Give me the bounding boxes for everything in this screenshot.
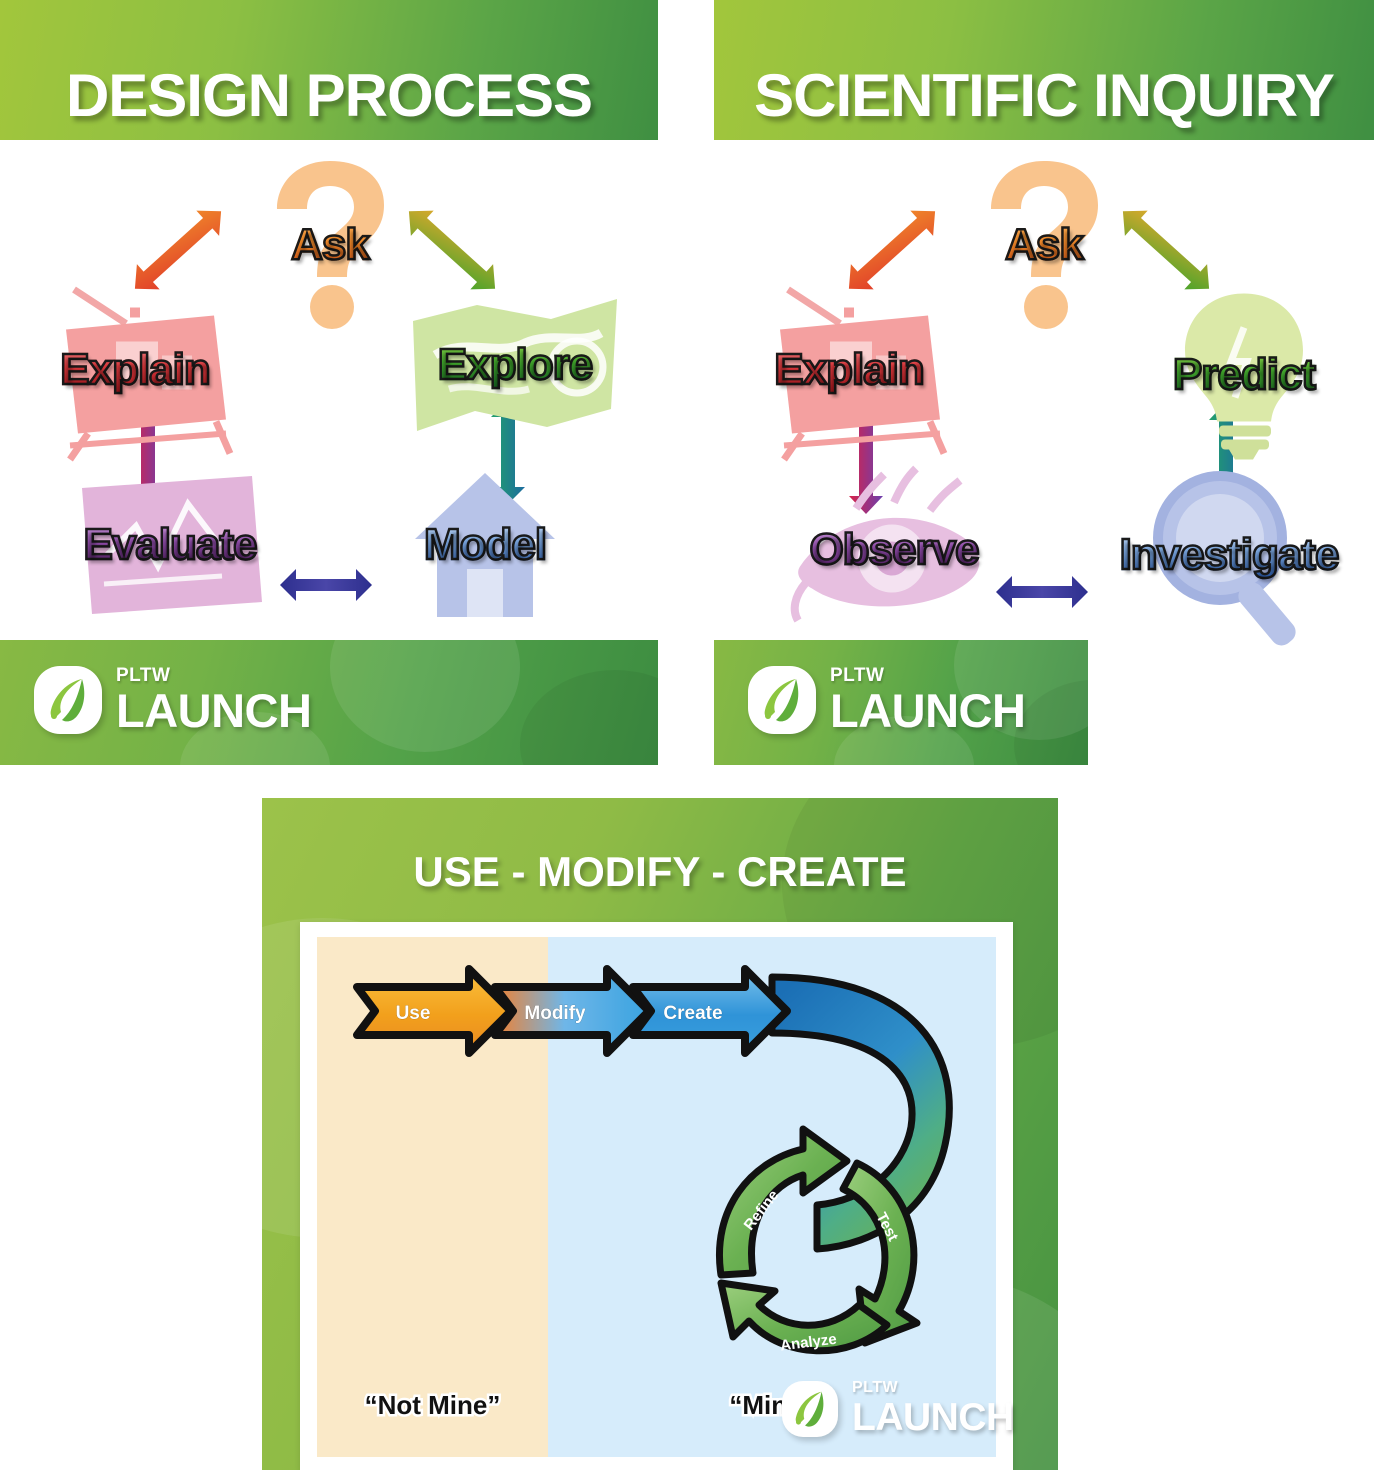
cycle-node-explain[interactable]: Explain	[20, 275, 250, 465]
cycle-node-predict[interactable]: Predict	[1129, 285, 1359, 465]
cycle-node-label-ask: Ask	[1005, 220, 1083, 270]
pltw-brand-sub: PLTW	[830, 666, 1025, 685]
cycle-node-ask[interactable]: Ask	[245, 150, 415, 340]
scientific-inquiry-panel: SCIENTIFIC INQUIRY	[714, 0, 1374, 765]
cycle-node-label-ask: Ask	[291, 220, 369, 270]
decorative-blob	[520, 670, 658, 765]
design-process-header: DESIGN PROCESS	[0, 0, 658, 140]
zone-label-not-mine: “Not Mine”	[317, 1390, 548, 1421]
cycle-node-label-explain: Explain	[774, 345, 924, 395]
pltw-brand-sub: PLTW	[852, 1380, 1014, 1396]
cycle-node-label-evaluate: Evaluate	[84, 520, 257, 570]
design-process-cycle: Ask Explore Model	[0, 140, 658, 640]
cycle-node-explore[interactable]: Explore	[400, 280, 630, 450]
pltw-brand-main: LAUNCH	[830, 687, 1025, 734]
scientific-inquiry-footer-band: PLTW LAUNCH	[714, 640, 1088, 765]
pltw-launch-logo[interactable]: PLTW LAUNCH	[782, 1380, 1014, 1437]
cycle-node-model[interactable]: Model	[385, 460, 585, 630]
cycle-node-label-explain: Explain	[60, 345, 210, 395]
cycle-node-label-observe: Observe	[809, 525, 978, 575]
cycle-node-label-investigate: Investigate	[1120, 530, 1339, 580]
pltw-brand-main: LAUNCH	[852, 1398, 1014, 1437]
pltw-rocket-leaf-icon	[34, 666, 102, 734]
page-title-design-process: DESIGN PROCESS	[66, 66, 592, 126]
cycle-node-observe[interactable]: Observe	[764, 460, 1024, 640]
cycle-node-investigate[interactable]: Investigate	[1084, 470, 1374, 640]
scientific-inquiry-cycle: Ask Predict Investigate	[714, 140, 1374, 640]
pltw-brand-sub: PLTW	[116, 666, 311, 685]
design-process-footer-band: PLTW LAUNCH	[0, 640, 658, 765]
pltw-launch-logo[interactable]: PLTW LAUNCH	[34, 666, 311, 734]
design-process-panel: DESIGN PROCESS	[0, 0, 658, 765]
cycle-node-ask[interactable]: Ask	[959, 150, 1129, 340]
pltw-wordmark: PLTW LAUNCH	[852, 1380, 1014, 1437]
zone-not-mine: “Not Mine”	[317, 937, 548, 1457]
decorative-blob	[330, 640, 520, 752]
pltw-rocket-leaf-icon	[782, 1381, 838, 1437]
cycle-node-label-predict: Predict	[1173, 350, 1315, 400]
page-title-scientific-inquiry: SCIENTIFIC INQUIRY	[754, 66, 1334, 126]
zone-mine: “Mine”	[548, 937, 996, 1457]
pltw-rocket-leaf-icon	[748, 666, 816, 734]
pltw-wordmark: PLTW LAUNCH	[830, 666, 1025, 734]
pltw-brand-main: LAUNCH	[116, 687, 311, 734]
page-title-use-modify-create: USE - MODIFY - CREATE	[262, 848, 1058, 896]
use-modify-create-panel: USE - MODIFY - CREATE “Not Mine” “Mine”	[262, 798, 1058, 1470]
cycle-node-label-model: Model	[424, 520, 546, 570]
scientific-inquiry-header: SCIENTIFIC INQUIRY	[714, 0, 1374, 140]
cycle-node-evaluate[interactable]: Evaluate	[55, 460, 285, 630]
pltw-launch-logo[interactable]: PLTW LAUNCH	[748, 666, 1025, 734]
pltw-wordmark: PLTW LAUNCH	[116, 666, 311, 734]
cycle-node-explain[interactable]: Explain	[734, 275, 964, 465]
cycle-node-label-explore: Explore	[438, 340, 592, 390]
